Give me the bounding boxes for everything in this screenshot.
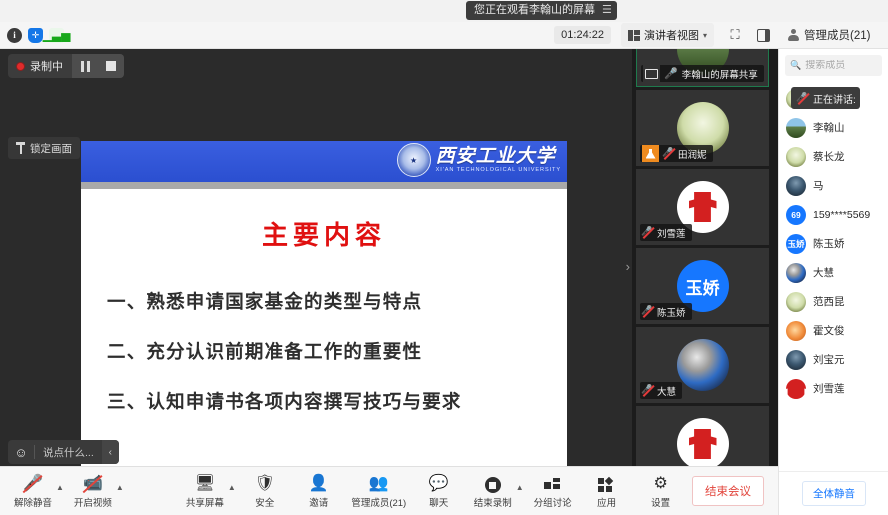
apps-button[interactable]: 应用 [580, 468, 634, 515]
view-mode-selector[interactable]: 演讲者视图 ▾ [621, 23, 714, 47]
video-tile[interactable] [636, 406, 769, 466]
mic-off-icon [642, 384, 653, 397]
video-tile[interactable]: 🎤 李翰山的屏幕共享 [636, 49, 769, 87]
avatar [677, 418, 729, 466]
participants-panel: 🔍 李翰山 蔡长龙 马 69 159****55 [778, 49, 888, 515]
university-logo-text: 西安工业大学 XI'AN TECHNOLOGICAL UNIVERSITY [436, 146, 561, 174]
university-name-en: XI'AN TECHNOLOGICAL UNIVERSITY [436, 166, 561, 174]
avatar: 玉娇 [786, 234, 806, 254]
stop-recording-toolbar-button[interactable]: 结束录制 [466, 468, 520, 515]
avatar [786, 379, 806, 399]
meeting-timer: 01:24:22 [554, 26, 611, 44]
avatar [786, 321, 806, 341]
zoom-meeting-window: 您正在观看李翰山的屏幕 ☰ i ✛ ▁▃▅ 01:24:22 演讲者视图 ▾ ⛶ [0, 0, 888, 515]
avatar [786, 263, 806, 283]
slide-divider-band [81, 182, 567, 189]
list-item[interactable]: 刘宝元 [779, 345, 888, 374]
titlebar-right-controls: 01:24:22 演讲者视图 ▾ ⛶ 管理成员(21) [554, 22, 888, 49]
invite-label: 邀请 [309, 495, 328, 509]
participant-name: 陈玉娇 [657, 305, 686, 319]
emoji-icon[interactable]: ☺ [8, 440, 34, 464]
share-screen-label: 共享屏幕 [186, 495, 224, 509]
share-screen-button[interactable]: 🖥 共享屏幕 [178, 468, 232, 515]
speaker-view-icon [628, 30, 640, 41]
collapse-chat-icon[interactable]: ‹ [102, 440, 119, 464]
participant-name: 李翰山 [813, 120, 845, 135]
pin-icon [16, 142, 25, 154]
start-video-label: 开启视频 [74, 495, 112, 509]
stop-recording-label: 结束录制 [474, 495, 512, 509]
speaking-now-text: 正在讲话: [813, 91, 856, 106]
info-icon[interactable]: i [7, 28, 22, 43]
shared-screen-stage[interactable]: 录制中 锁定画面 ★ 西安工业大学 XI'AN TECHNOLOGICAL UN… [0, 49, 632, 466]
mic-on-icon: 🎤 [664, 67, 678, 80]
participant-name: 159****5569 [813, 209, 870, 221]
mic-off-icon [663, 147, 674, 160]
recording-indicator: 录制中 [8, 54, 124, 78]
participants-list[interactable]: 李翰山 蔡长龙 马 69 159****5569 玉娇 陈玉娇 大慧 [779, 80, 888, 456]
say-something-bar[interactable]: ☺ 说点什么... ‹ [8, 440, 119, 464]
titlebar-left-icons: i ✛ ▁▃▅ [0, 28, 64, 43]
search-member-box[interactable]: 🔍 [785, 55, 882, 76]
avatar: 69 [786, 205, 806, 225]
fullscreen-icon: ⛶ [724, 24, 746, 46]
unmute-button[interactable]: 🎤 解除静音 [6, 468, 60, 515]
list-menu-icon[interactable]: ☰ [602, 1, 611, 20]
video-tile[interactable]: 大慧 [636, 327, 769, 403]
mic-off-icon [642, 305, 653, 318]
participants-panel-footer: 全体静音 [779, 471, 888, 515]
slide-bullet: 二、充分认识前期准备工作的重要性 [107, 338, 567, 364]
participant-name: 陈玉娇 [813, 236, 845, 251]
video-tile[interactable]: 田润妮 [636, 90, 769, 166]
mic-off-icon [797, 92, 808, 105]
search-input[interactable] [805, 60, 877, 71]
say-something-placeholder[interactable]: 说点什么... [35, 445, 102, 460]
watching-screen-text: 您正在观看李翰山的屏幕 [474, 1, 595, 20]
chevron-down-icon: ▾ [703, 31, 707, 40]
tile-name-tag: 大慧 [640, 382, 682, 399]
participant-name: 马 [813, 178, 824, 193]
slide-bullet: 三、认知申请书各项内容撰写技巧与要求 [107, 388, 567, 414]
participant-name: 刘雪莲 [813, 381, 845, 396]
meeting-titlebar: i ✛ ▁▃▅ 01:24:22 演讲者视图 ▾ ⛶ 管理成员(21) [0, 22, 888, 49]
stop-recording-button[interactable] [98, 54, 124, 78]
slide-bullet-list: 一、熟悉申请国家基金的类型与特点 二、充分认识前期准备工作的重要性 三、认知申请… [107, 288, 567, 414]
person-icon [787, 29, 799, 41]
participant-name: 李翰山的屏幕共享 [682, 67, 758, 81]
settings-button[interactable]: ⚙ 设置 [634, 468, 688, 515]
chat-label: 聊天 [429, 495, 448, 509]
manage-members-label: 管理成员(21) [351, 495, 406, 509]
participant-name: 蔡长龙 [813, 149, 845, 164]
toggle-panel-button[interactable] [752, 24, 774, 46]
participant-name: 霍文俊 [813, 323, 845, 338]
members-panel-title: 管理成员(21) [804, 27, 870, 43]
list-item[interactable]: 霍文俊 [779, 316, 888, 345]
security-button[interactable]: 🛡 安全 [238, 468, 292, 515]
participant-name: 大慧 [813, 265, 834, 280]
speaking-now-tooltip: 正在讲话: [791, 87, 860, 109]
members-panel-header: 管理成员(21) [780, 27, 888, 43]
side-panel-icon [757, 29, 770, 42]
video-filmstrip[interactable]: 🎤 李翰山的屏幕共享 田润妮 刘雪莲 玉娇 陈玉娇 [632, 49, 778, 466]
mic-off-icon [642, 226, 653, 239]
shield-icon[interactable]: ✛ [28, 28, 43, 43]
stop-icon [106, 61, 116, 71]
slide-header-band: ★ 西安工业大学 XI'AN TECHNOLOGICAL UNIVERSITY [81, 141, 567, 182]
list-item[interactable]: 大慧 [779, 258, 888, 287]
avatar [677, 339, 729, 391]
chat-button[interactable]: 💬 聊天 [412, 468, 466, 515]
meeting-toolbar: 🎤 解除静音 ▲ 📹 开启视频 ▲ 🖥 共享屏幕 ▲ 🛡 安全 👤 邀请 👥 管… [0, 466, 778, 515]
manage-members-icon: 👥 [369, 473, 389, 493]
recording-label: 录制中 [30, 58, 72, 74]
list-item[interactable]: 玉娇 陈玉娇 [779, 229, 888, 258]
expand-filmstrip-icon[interactable]: › [626, 259, 630, 274]
search-icon: 🔍 [790, 60, 801, 71]
university-name-cn: 西安工业大学 [436, 146, 556, 166]
participant-name: 田润妮 [678, 147, 707, 161]
breakout-rooms-button[interactable]: 分组讨论 [526, 468, 580, 515]
avatar [786, 118, 806, 138]
list-item[interactable]: 刘雪莲 [779, 374, 888, 403]
lock-screen-button[interactable]: 锁定画面 [8, 137, 80, 159]
pause-icon [81, 61, 90, 72]
participant-name: 范西昆 [813, 294, 845, 309]
pause-recording-button[interactable] [72, 54, 98, 78]
chat-bubble-icon: 💬 [429, 473, 449, 493]
list-item[interactable]: 69 159****5569 [779, 200, 888, 229]
avatar [786, 292, 806, 312]
host-icon [642, 145, 659, 162]
apps-icon [598, 473, 615, 493]
avatar [786, 350, 806, 370]
breakout-rooms-label: 分组讨论 [534, 495, 572, 509]
slide-bullet: 一、熟悉申请国家基金的类型与特点 [107, 288, 567, 314]
university-logo: ★ 西安工业大学 XI'AN TECHNOLOGICAL UNIVERSITY [397, 143, 561, 177]
video-tile[interactable]: 刘雪莲 [636, 169, 769, 245]
unmute-label: 解除静音 [14, 495, 52, 509]
video-off-icon: 📹 [83, 473, 103, 493]
list-item[interactable]: 李翰山 [779, 113, 888, 142]
start-video-button[interactable]: 📹 开启视频 [66, 468, 120, 515]
fullscreen-button[interactable]: ⛶ [724, 24, 746, 46]
manage-members-button[interactable]: 👥 管理成员(21) [346, 468, 412, 515]
presentation-slide: ★ 西安工业大学 XI'AN TECHNOLOGICAL UNIVERSITY … [81, 141, 567, 466]
slide-title: 主要内容 [81, 215, 567, 252]
tile-name-tag: 刘雪莲 [640, 224, 692, 241]
tile-name-tag: 田润妮 [640, 145, 713, 162]
mic-muted-icon: 🎤 [23, 473, 43, 493]
end-meeting-button[interactable]: 结束会议 [692, 476, 764, 506]
list-item[interactable]: 马 [779, 171, 888, 200]
avatar [786, 176, 806, 196]
video-tile[interactable]: 玉娇 陈玉娇 [636, 248, 769, 324]
participant-name: 大慧 [657, 384, 676, 398]
university-seal-icon: ★ [397, 143, 431, 177]
participant-name: 刘宝元 [813, 352, 845, 367]
security-label: 安全 [255, 495, 274, 509]
shield-icon: 🛡 [255, 473, 275, 493]
tile-name-tag: 陈玉娇 [640, 303, 692, 320]
search-wrapper: 🔍 [779, 49, 888, 80]
gear-icon: ⚙ [654, 473, 668, 493]
share-screen-icon: 🖥 [195, 473, 215, 493]
list-item[interactable]: 范西昆 [779, 287, 888, 316]
mute-all-button[interactable]: 全体静音 [802, 481, 866, 506]
signal-bars-icon[interactable]: ▁▃▅ [49, 28, 64, 43]
top-strip: 您正在观看李翰山的屏幕 ☰ [0, 0, 888, 22]
lock-screen-label: 锁定画面 [30, 141, 72, 156]
screen-share-icon [643, 65, 660, 82]
invite-person-icon: 👤 [309, 473, 329, 493]
participant-name: 刘雪莲 [657, 226, 686, 240]
recording-dot-icon [16, 62, 25, 71]
settings-label: 设置 [651, 495, 670, 509]
invite-button[interactable]: 👤 邀请 [292, 468, 346, 515]
avatar [786, 147, 806, 167]
watching-screen-tooltip: 您正在观看李翰山的屏幕 ☰ [466, 1, 617, 20]
apps-label: 应用 [597, 495, 616, 509]
list-item[interactable]: 蔡长龙 [779, 142, 888, 171]
tile-name-tag: 🎤 李翰山的屏幕共享 [641, 65, 764, 82]
breakout-rooms-icon [544, 473, 561, 493]
stop-record-icon [485, 473, 501, 493]
view-mode-label: 演讲者视图 [644, 27, 699, 43]
